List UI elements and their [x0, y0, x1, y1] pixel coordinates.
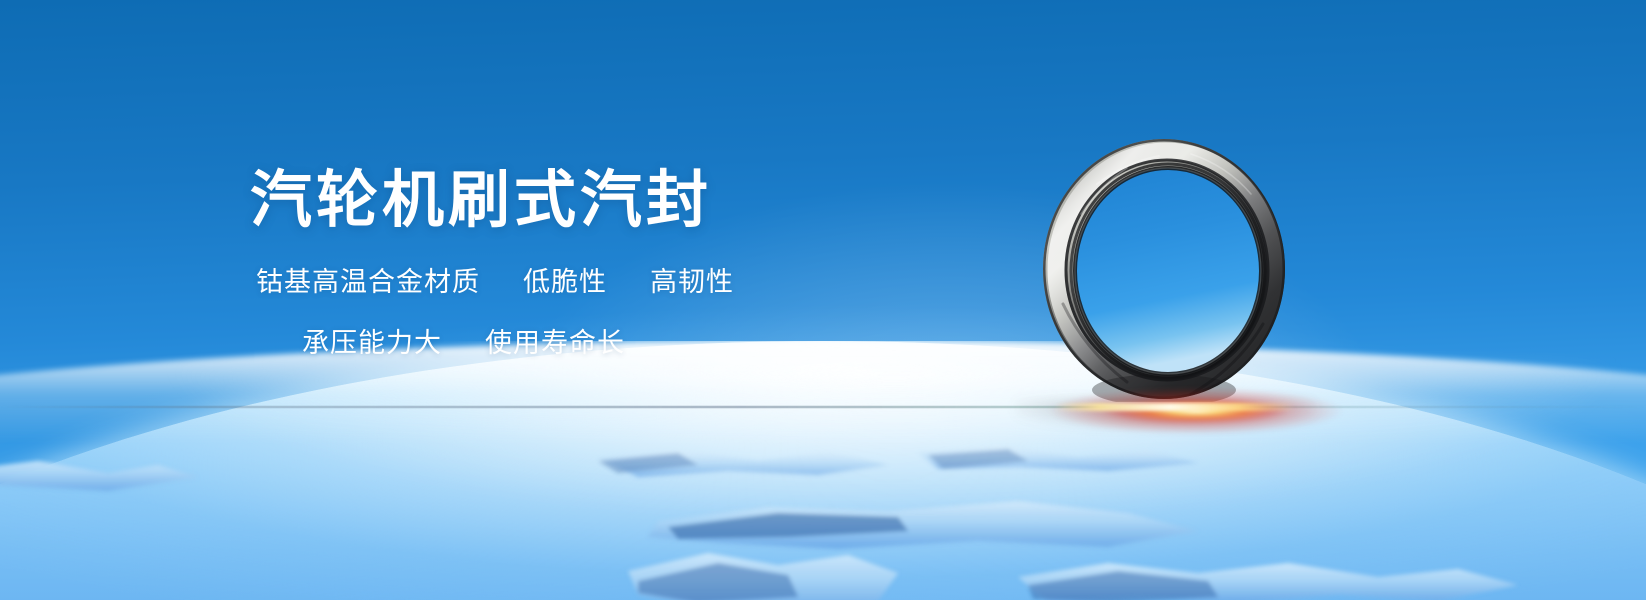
globe-specular-highlight — [159, 363, 1629, 523]
hero-banner: 汽轮机刷式汽封 钴基高温合金材质 低脆性 高韧性 承压能力大 使用寿命长 — [0, 0, 1646, 600]
banner-subtitle-line-2: 承压能力大 使用寿命长 — [302, 321, 734, 360]
subtitle-1-part-3: 高韧性 — [650, 267, 734, 297]
subtitle-1-part-2: 低脆性 — [523, 267, 607, 297]
subtitle-2-part-2: 使用寿命长 — [485, 328, 625, 358]
brush-seal-ring-icon — [1041, 136, 1287, 402]
subtitle-1-part-1: 钴基高温合金材质 — [256, 267, 480, 297]
earth-globe — [0, 341, 1646, 600]
banner-subtitle-line-1: 钴基高温合金材质 低脆性 高韧性 — [256, 260, 734, 299]
subtitle-2-part-1: 承压能力大 — [302, 328, 442, 358]
banner-headline: 汽轮机刷式汽封 — [250, 168, 734, 234]
banner-copy: 汽轮机刷式汽封 钴基高温合金材质 低脆性 高韧性 承压能力大 使用寿命长 — [250, 168, 734, 360]
product-ring — [1041, 136, 1287, 402]
